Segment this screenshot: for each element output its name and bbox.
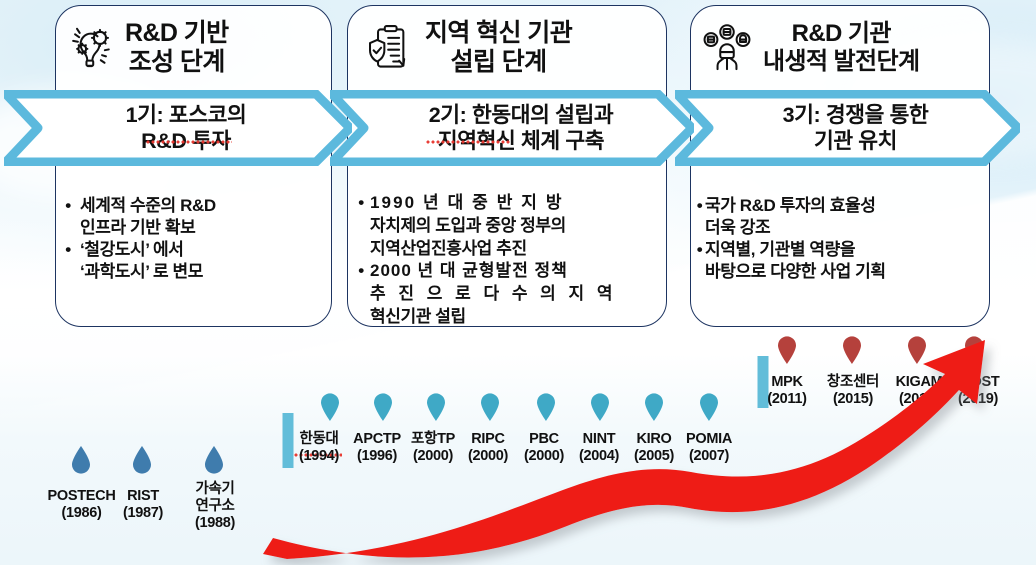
bullet-item: • 세계적 수준의 R&D인프라 기반 확보 <box>58 195 326 239</box>
timeline-label-accelerator-lab: 가속기 연구소(1988) <box>180 481 250 531</box>
bullet-text: 국가 R&D 투자의 효율성더욱 강조 <box>705 195 876 239</box>
bullet-marker: • <box>352 260 370 283</box>
stage-ribbon-label-2: 2기: 한동대의 설립과 지역혁신 체계 구축 <box>330 90 694 166</box>
bullet-text: 지역별, 기관별 역량을바탕으로 다양한 사업 기획 <box>705 239 886 283</box>
stage-title-3: R&D 기관 내생적 발전단계 <box>763 20 919 76</box>
timeline-label-rist: RIST(1987) <box>104 488 182 522</box>
bullet-marker: • <box>352 192 370 215</box>
infographic-canvas: R&D 기반 조성 단계 지역 혁신 기관 설립 단계 <box>0 0 1036 565</box>
stage-ribbon-label-1: 1기: 포스코의 R&D 투자 <box>4 90 352 166</box>
stage-bullets-2: • 1990 년 대 중 반 지 방자치제의 도입과 중앙 정부의지역산업진흥사… <box>352 192 664 329</box>
lightbulb-gears-icon <box>62 21 116 75</box>
stage-ribbon-1: 1기: 포스코의 R&D 투자 <box>4 90 352 166</box>
stage-bullets-3: • 국가 R&D 투자의 효율성더욱 강조 • 지역별, 기관별 역량을바탕으로… <box>694 195 990 283</box>
stage-ribbon-label-3: 3기: 경쟁을 통한 기관 유치 <box>675 90 1020 166</box>
growth-arrow <box>255 330 1036 565</box>
bullet-item: • 2000 년 대 균형발전 정책추 진 으 로 다 수 의 지 역혁신기관 … <box>352 260 664 328</box>
bullet-text: 1990 년 대 중 반 지 방자치제의 도입과 중앙 정부의지역산업진흥사업 … <box>370 192 566 260</box>
bullet-marker: • <box>694 195 705 217</box>
stage-bullets-1: • 세계적 수준의 R&D인프라 기반 확보 • ‘철강도시’ 에서 ‘과학도시… <box>58 195 326 283</box>
bullet-marker: • <box>58 239 78 261</box>
bullet-text: ‘철강도시’ 에서 ‘과학도시’ 로 변모 <box>78 239 203 283</box>
stage-ribbon-2: 2기: 한동대의 설립과 지역혁신 체계 구축 <box>330 90 694 166</box>
bullet-marker: • <box>694 239 705 261</box>
stage-heading-3: R&D 기관 내생적 발전단계 <box>700 12 985 84</box>
stage-ribbon-3: 3기: 경쟁을 통한 기관 유치 <box>675 90 1020 166</box>
stage-heading-1: R&D 기반 조성 단계 <box>62 12 328 84</box>
document-shield-check-icon <box>362 21 416 75</box>
people-network-icon <box>700 21 754 75</box>
bullet-item: • 1990 년 대 중 반 지 방자치제의 도입과 중앙 정부의지역산업진흥사… <box>352 192 664 260</box>
timeline-pin-rist[interactable] <box>130 445 154 475</box>
stage-heading-2: 지역 혁신 기관 설립 단계 <box>362 12 662 84</box>
timeline-pin-accelerator-lab[interactable] <box>202 445 226 475</box>
bullet-text: 2000 년 대 균형발전 정책추 진 으 로 다 수 의 지 역혁신기관 설립 <box>370 260 617 328</box>
timeline-pin-postech[interactable] <box>69 445 93 475</box>
bullet-text: 세계적 수준의 R&D인프라 기반 확보 <box>78 195 216 239</box>
bullet-item: • 국가 R&D 투자의 효율성더욱 강조 <box>694 195 990 239</box>
stage-title-2: 지역 혁신 기관 설립 단계 <box>425 19 572 77</box>
bullet-item: • 지역별, 기관별 역량을바탕으로 다양한 사업 기획 <box>694 239 990 283</box>
bullet-item: • ‘철강도시’ 에서 ‘과학도시’ 로 변모 <box>58 239 326 283</box>
bullet-marker: • <box>58 195 78 217</box>
stage-title-1: R&D 기반 조성 단계 <box>125 19 229 77</box>
